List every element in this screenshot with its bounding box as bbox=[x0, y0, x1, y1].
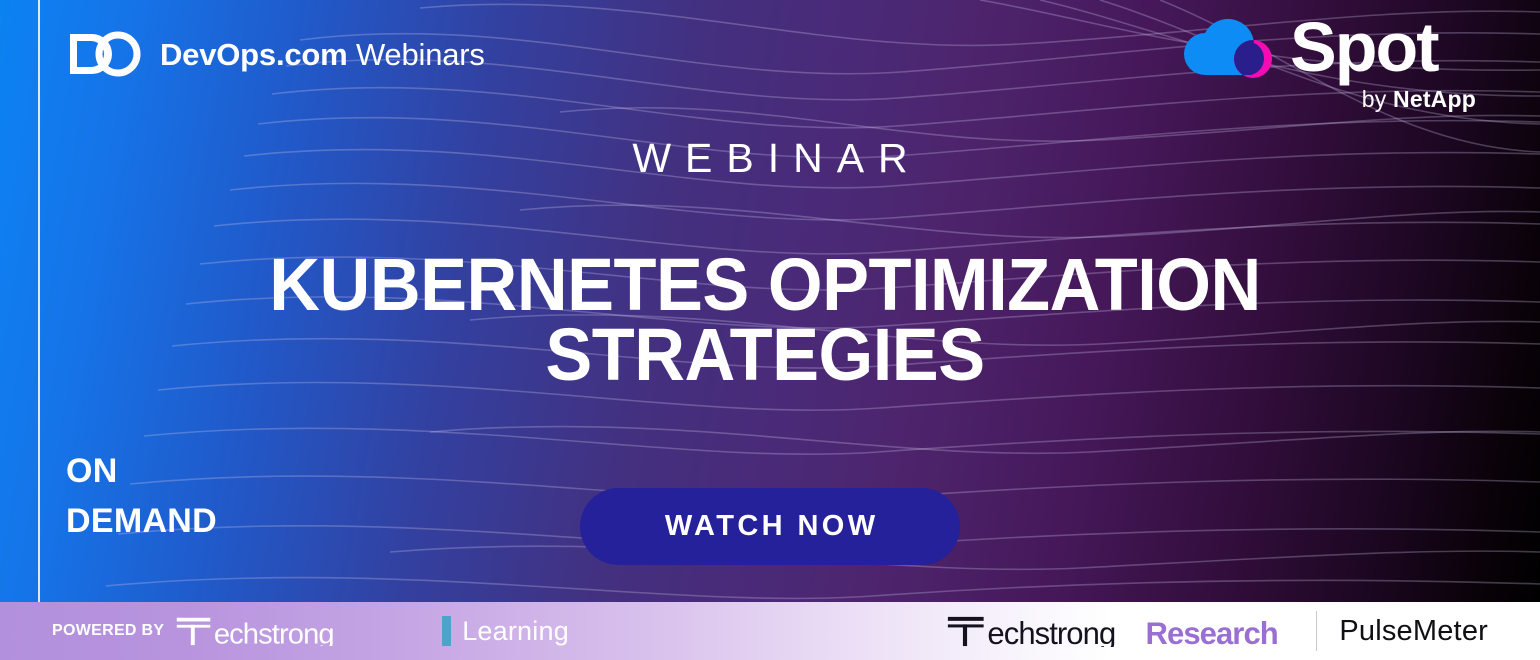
spot-wordmark: Spot bbox=[1290, 12, 1438, 82]
spot-by-netapp-sub: by NetApp bbox=[1178, 86, 1478, 113]
page-title: KUBERNETES OPTIMIZATION STRATEGIES bbox=[152, 250, 1378, 389]
netapp-label: NetApp bbox=[1393, 86, 1476, 112]
on-demand-badge: ON DEMAND bbox=[66, 446, 217, 547]
watch-now-button[interactable]: WATCH NOW bbox=[580, 488, 960, 565]
footer-bar: POWERED BY echstrong Learning echstrong … bbox=[0, 602, 1540, 660]
devops-webinars-label: Webinars bbox=[356, 37, 485, 72]
spot-by-netapp-logo[interactable]: Spot by NetApp bbox=[1178, 8, 1478, 126]
learning-label: Learning bbox=[462, 616, 569, 647]
powered-by-label: POWERED BY bbox=[52, 622, 164, 640]
devops-infinity-icon bbox=[66, 29, 146, 79]
devops-logo[interactable]: DevOps.com Webinars bbox=[66, 26, 485, 82]
techstrong-learning-logo[interactable]: POWERED BY echstrong Learning bbox=[52, 611, 569, 651]
pulsemeter-separator bbox=[1316, 611, 1318, 651]
hero-artwork: DevOps.com Webinars bbox=[0, 0, 1540, 602]
left-divider-rule bbox=[38, 0, 40, 602]
webinar-promo-banner: DevOps.com Webinars bbox=[0, 0, 1540, 660]
spot-cloud-icon bbox=[1178, 13, 1278, 85]
learning-separator-bar bbox=[442, 616, 451, 646]
eyebrow-webinar-label: WEBINAR bbox=[0, 138, 1540, 179]
techstrong-research-wordmark-icon: echstrong Research bbox=[946, 615, 1294, 647]
svg-text:echstrong: echstrong bbox=[214, 618, 334, 646]
devops-wordmark: DevOps.com Webinars bbox=[160, 39, 485, 70]
techstrong-wordmark-white-icon: echstrong bbox=[175, 616, 431, 646]
svg-text:echstrong: echstrong bbox=[987, 616, 1115, 647]
spot-by-label: by bbox=[1362, 86, 1393, 112]
devops-name: DevOps.com bbox=[160, 37, 348, 72]
techstrong-research-pulsemeter-logo[interactable]: echstrong Research PulseMeter bbox=[946, 611, 1488, 651]
svg-text:Research: Research bbox=[1145, 616, 1277, 647]
pulsemeter-label: PulseMeter bbox=[1339, 615, 1488, 648]
